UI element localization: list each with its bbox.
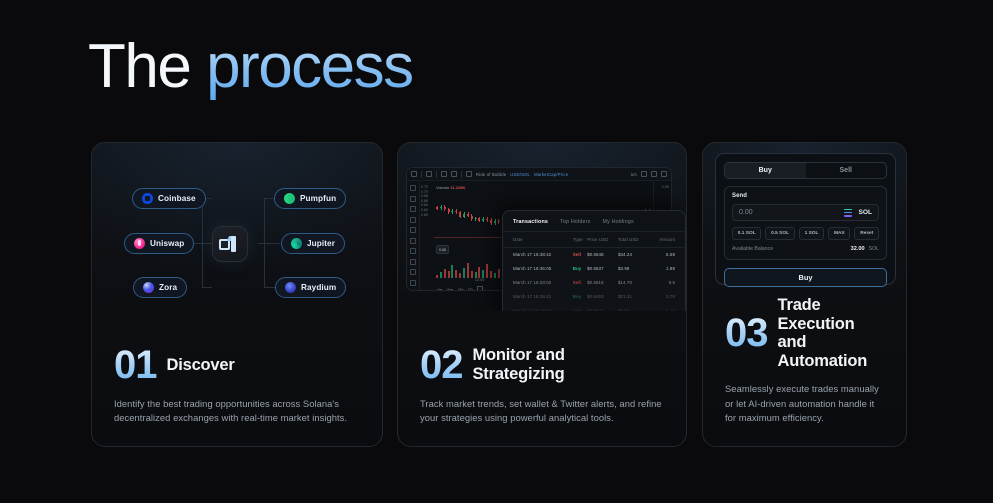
toolbar-divider xyxy=(436,171,437,178)
interval-5m[interactable]: 5m xyxy=(446,287,453,292)
chart-price-badge: 0.65 xyxy=(436,245,449,254)
process-cards: Coinbase Uniswap Zora Pumpfun xyxy=(91,142,907,447)
calendar-icon[interactable] xyxy=(477,286,483,291)
list-icon[interactable] xyxy=(451,171,457,177)
cell-amount: 1.88 xyxy=(648,262,685,276)
volume-bar xyxy=(444,269,446,278)
balance-unit: SOL xyxy=(869,246,879,252)
cell-total: $14.70 xyxy=(618,276,648,290)
wire-jupiter-h xyxy=(258,243,280,244)
node-raydium-label: Raydium xyxy=(301,283,336,292)
pumpfun-icon xyxy=(282,191,297,206)
col-total-usd[interactable]: Total USD xyxy=(618,232,648,248)
transactions-table: Date Type Price USD Total USD Amount Mar… xyxy=(503,232,685,311)
card1-visual: Coinbase Uniswap Zora Pumpfun xyxy=(92,143,382,311)
coinbase-icon xyxy=(142,193,153,204)
chart-metric[interactable]: MarketCap/Price xyxy=(534,172,568,177)
node-coinbase-label: Coinbase xyxy=(158,194,196,203)
uniswap-icon xyxy=(134,238,145,249)
col-type[interactable]: Type xyxy=(573,232,587,248)
volume-bar xyxy=(448,271,450,278)
volume-bar xyxy=(467,263,469,278)
card2-title-line2: Strategizing xyxy=(473,365,565,383)
o1-logo-icon xyxy=(212,226,248,262)
table-row[interactable]: March 17 16:36:05 Buy $0.6537 $3.98 1.88 xyxy=(503,262,685,276)
chart-toolbar: Ride of Bubble USD/SOL MarketCap/Price 1… xyxy=(407,168,671,181)
cell-price: $0.6537 xyxy=(587,262,618,276)
interval-1m[interactable]: 1m xyxy=(436,287,443,292)
buy-tab[interactable]: Buy xyxy=(725,163,806,178)
cell-total: $9.02 xyxy=(618,303,648,311)
raydium-icon xyxy=(285,282,296,293)
card3-step-title: Trade Execution and Automation xyxy=(778,296,885,370)
cell-type: Sell xyxy=(573,303,587,311)
volume-bar xyxy=(498,269,500,278)
o1-logo-glyph xyxy=(219,236,241,252)
card3-description: Seamlessly execute trades manually or le… xyxy=(725,382,884,426)
magnet-icon[interactable] xyxy=(410,280,416,286)
quick-amount-buttons[interactable]: 0.1 SOL 0.5 SOL 1 SOL MAX Reset xyxy=(732,227,879,240)
volume-bar xyxy=(478,267,480,279)
volume-bar xyxy=(482,270,484,278)
cell-amount: 2.14 xyxy=(648,303,685,311)
balance-label: Available Balance xyxy=(732,246,851,252)
volume-bar xyxy=(463,268,465,278)
chart-interval[interactable]: 1m xyxy=(631,172,637,177)
transactions-panel: Transactions Top Holders My Holdings Dat… xyxy=(502,210,686,311)
quick-amount-max[interactable]: MAX xyxy=(828,227,850,240)
node-jupiter-label: Jupiter xyxy=(307,239,335,248)
cell-total: $34.24 xyxy=(618,248,648,262)
interval-1h[interactable]: 1H xyxy=(457,287,464,292)
card2-heading-row: 02 Monitor and Strategizing xyxy=(420,345,664,385)
volume-bar xyxy=(471,271,473,278)
col-amount[interactable]: Amount xyxy=(648,232,685,248)
trendline-icon[interactable] xyxy=(410,196,416,202)
node-jupiter[interactable]: Jupiter xyxy=(281,233,345,254)
card1-text: 01 Discover Identify the best trading op… xyxy=(92,345,382,446)
send-section: Send 0.00 SOL 0.1 SOL 0.5 SOL 1 SOL MAX … xyxy=(724,186,887,260)
process-card-discover: Coinbase Uniswap Zora Pumpfun xyxy=(91,142,383,447)
ruler-icon[interactable] xyxy=(410,269,416,275)
cell-type: Buy xyxy=(573,289,587,303)
chart-y-left-labels: 0.720.700.680.660.640.620.60 xyxy=(421,185,428,217)
pattern-icon[interactable] xyxy=(410,227,416,233)
tab-top-holders[interactable]: Top Holders xyxy=(560,219,590,225)
card1-description: Identify the best trading opportunities … xyxy=(114,397,360,426)
cell-total: $3.98 xyxy=(618,262,648,276)
jupiter-icon xyxy=(291,238,302,249)
volume-bar xyxy=(486,264,488,278)
quick-amount-1[interactable]: 1 SOL xyxy=(799,227,824,240)
cell-amount: 3.70 xyxy=(648,289,685,303)
node-zora-label: Zora xyxy=(159,283,177,292)
x-tick: 12:00 xyxy=(475,278,485,282)
quick-amount-0-1[interactable]: 0.1 SOL xyxy=(732,227,761,240)
camera-icon[interactable] xyxy=(651,171,657,177)
cell-type: Buy xyxy=(573,262,587,276)
card2-visual: Ride of Bubble USD/SOL MarketCap/Price 1… xyxy=(398,143,686,311)
balance-value: 32.00 xyxy=(851,246,865,252)
cell-date: March 17 16:29:41 xyxy=(503,289,573,303)
wire-zora-h xyxy=(202,287,212,288)
chart-interval-buttons[interactable]: 1m 5m 1H 1D xyxy=(436,286,483,291)
interval-1d[interactable]: 1D xyxy=(467,287,474,292)
table-header-row: Date Type Price USD Total USD Amount xyxy=(503,232,685,248)
zora-icon xyxy=(143,282,154,293)
table-row[interactable]: March 17 16:33:02 Sell $0.6515 $14.70 9.… xyxy=(503,276,685,290)
node-coinbase[interactable]: Coinbase xyxy=(132,188,206,209)
transactions-table-head: Date Type Price USD Total USD Amount xyxy=(503,232,685,248)
dot-icon[interactable] xyxy=(466,171,472,177)
cell-type: Sell xyxy=(573,248,587,262)
brush-icon[interactable] xyxy=(410,238,416,244)
tab-transactions[interactable]: Transactions xyxy=(513,219,548,225)
available-balance-row: Available Balance 32.00 SOL xyxy=(732,246,879,252)
process-card-trade-execution: Buy Sell Send 0.00 SOL 0.1 SOL 0.5 SOL xyxy=(702,142,907,447)
card3-text: 03 Trade Execution and Automation Seamle… xyxy=(703,296,906,446)
sell-tab[interactable]: Sell xyxy=(806,163,887,178)
chart-pair[interactable]: USD/SOL xyxy=(510,172,530,177)
text-tool-icon[interactable] xyxy=(410,248,416,254)
cell-amount: 5.58 xyxy=(648,248,685,262)
table-row[interactable]: March 17 16:25:18 Sell $0.6441 $9.02 2.1… xyxy=(503,303,685,311)
y-tick: 2.00 xyxy=(662,185,669,189)
table-row[interactable]: March 17 16:38:42 Sell $0.6548 $34.24 5.… xyxy=(503,248,685,262)
card1-step-title: Discover xyxy=(167,356,235,374)
quick-amount-0-5[interactable]: 0.5 SOL xyxy=(765,227,794,240)
emoji-icon[interactable] xyxy=(410,259,416,265)
node-pumpfun-label: Pumpfun xyxy=(300,194,336,203)
toolbar-divider xyxy=(421,171,422,178)
crosshair-icon[interactable] xyxy=(410,185,416,191)
buy-sell-toggle[interactable]: Buy Sell xyxy=(724,162,887,179)
card2-description: Track market trends, set wallet & Twitte… xyxy=(420,397,664,426)
candlestick-type-icon[interactable] xyxy=(411,171,417,177)
card3-title-line2: and Automation xyxy=(778,333,868,369)
cell-amount: 9.6 xyxy=(648,276,685,290)
cell-date: March 17 16:25:18 xyxy=(503,303,573,311)
node-pumpfun[interactable]: Pumpfun xyxy=(274,188,346,209)
card3-step-number: 03 xyxy=(725,313,768,353)
cell-price: $0.6548 xyxy=(587,248,618,262)
volume-bar xyxy=(490,271,492,278)
volume-bar xyxy=(455,270,457,278)
wire-zora-v xyxy=(202,243,203,288)
fib-retracement-icon[interactable] xyxy=(410,217,416,223)
layout-icon[interactable] xyxy=(441,171,447,177)
process-section: The process xyxy=(0,0,993,503)
card3-title-line1: Trade Execution xyxy=(778,296,855,332)
transactions-tabs[interactable]: Transactions Top Holders My Holdings xyxy=(503,211,685,232)
cell-date: March 17 16:38:42 xyxy=(503,248,573,262)
chart-symbol[interactable]: Ride of Bubble xyxy=(476,172,506,177)
cell-price: $0.6515 xyxy=(587,276,618,290)
card2-step-title: Monitor and Strategizing xyxy=(473,346,565,383)
wire-uniswap-h xyxy=(192,243,214,244)
send-label: Send xyxy=(732,193,879,199)
volume-bar xyxy=(451,265,453,278)
col-date[interactable]: Date xyxy=(503,232,573,248)
node-zora[interactable]: Zora xyxy=(133,277,187,298)
settings-gear-icon[interactable] xyxy=(641,171,647,177)
page-title-part2: process xyxy=(206,32,413,101)
horizontal-line-icon[interactable] xyxy=(410,206,416,212)
col-price-usd[interactable]: Price USD xyxy=(587,232,618,248)
page-title-part1: The xyxy=(88,32,206,101)
card2-text: 02 Monitor and Strategizing Track market… xyxy=(398,345,686,446)
node-uniswap[interactable]: Uniswap xyxy=(124,233,194,254)
wire-raydium-v xyxy=(264,243,265,288)
card3-heading-row: 03 Trade Execution and Automation xyxy=(725,296,884,370)
card2-title-line1: Monitor and xyxy=(473,346,565,364)
tab-my-holdings[interactable]: My Holdings xyxy=(602,219,633,225)
card2-step-number: 02 xyxy=(420,345,463,385)
chart-drawing-tools[interactable] xyxy=(407,181,420,291)
cell-date: March 17 16:36:05 xyxy=(503,262,573,276)
swap-panel: Buy Sell Send 0.00 SOL 0.1 SOL 0.5 SOL xyxy=(715,153,896,285)
cell-price: $0.6463 xyxy=(587,289,618,303)
amount-input-row[interactable]: 0.00 SOL xyxy=(732,204,879,221)
cell-type: Sell xyxy=(573,276,587,290)
wire-pumpfun-v xyxy=(264,198,265,244)
exchange-network-diagram: Coinbase Uniswap Zora Pumpfun xyxy=(92,143,382,311)
node-uniswap-label: Uniswap xyxy=(150,239,184,248)
amount-input[interactable]: 0.00 xyxy=(739,209,844,216)
quick-amount-reset[interactable]: Reset xyxy=(854,227,879,240)
toolbar-divider xyxy=(461,171,462,178)
card3-visual: Buy Sell Send 0.00 SOL 0.1 SOL 0.5 SOL xyxy=(703,143,906,311)
table-row[interactable]: March 17 16:29:41 Buy $0.6463 $21.31 3.7… xyxy=(503,289,685,303)
fullscreen-icon[interactable] xyxy=(661,171,667,177)
transactions-table-body: March 17 16:38:42 Sell $0.6548 $34.24 5.… xyxy=(503,248,685,312)
cell-total: $21.31 xyxy=(618,289,648,303)
process-card-monitor: Ride of Bubble USD/SOL MarketCap/Price 1… xyxy=(397,142,687,447)
currency-label: SOL xyxy=(858,209,872,216)
card1-heading-row: 01 Discover xyxy=(114,345,360,385)
cell-date: March 17 16:33:02 xyxy=(503,276,573,290)
node-raydium[interactable]: Raydium xyxy=(275,277,346,298)
submit-buy-button[interactable]: Buy xyxy=(724,268,887,287)
indicator-icon[interactable] xyxy=(426,171,432,177)
card1-step-number: 01 xyxy=(114,345,157,385)
cell-price: $0.6441 xyxy=(587,303,618,311)
token-selector-icon[interactable] xyxy=(844,209,852,217)
page-title: The process xyxy=(88,36,413,98)
